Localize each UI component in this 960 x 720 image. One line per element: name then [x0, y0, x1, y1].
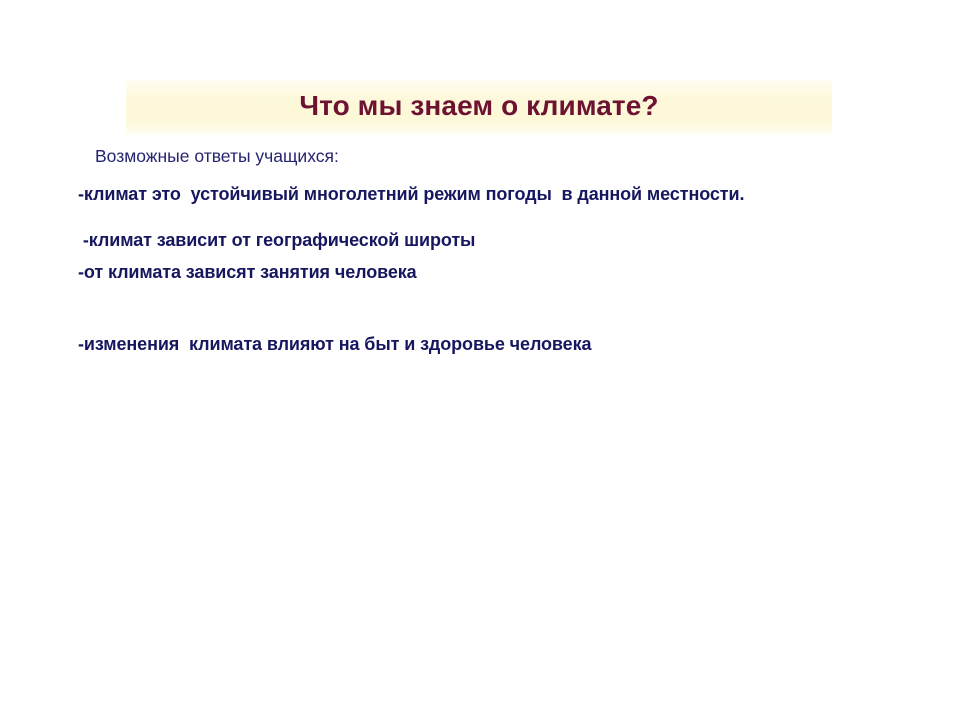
- slide-canvas: Что мы знаем о климате? Возможные ответы…: [0, 0, 960, 720]
- body-content: Возможные ответы учащихся: -климат это у…: [78, 146, 868, 358]
- bullet-item-climate-change-health: -изменения климата влияют на быт и здоро…: [78, 331, 868, 358]
- bullet-item-latitude-dependency: -климат зависит от географической широты: [78, 227, 868, 254]
- bullet-item-climate-definition: -климат это устойчивый многолетний режим…: [78, 181, 768, 208]
- title-banner: Что мы знаем о климате?: [126, 80, 832, 135]
- lead-paragraph: Возможные ответы учащихся:: [78, 146, 868, 167]
- bullet-item-human-activities: -от климата зависят занятия человека: [78, 259, 868, 286]
- page-title: Что мы знаем о климате?: [293, 92, 664, 123]
